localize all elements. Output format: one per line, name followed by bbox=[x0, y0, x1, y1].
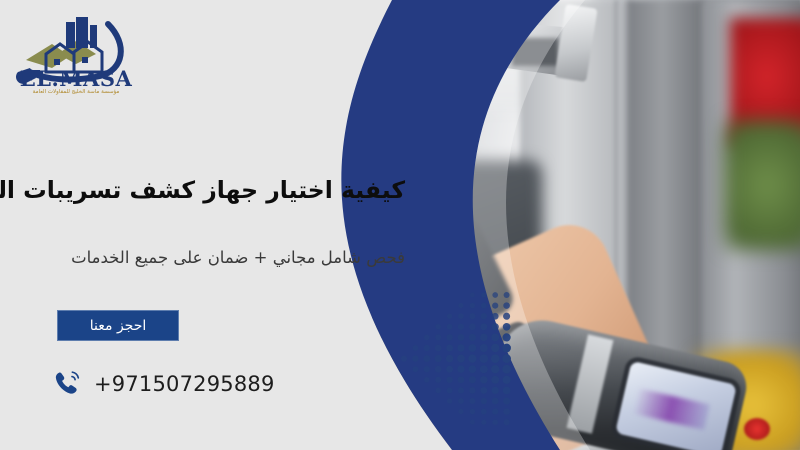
logo-tagline: مؤسسة ماسة الخليج للمقاولات العامة bbox=[12, 89, 140, 95]
banner-content: EL.MASA مؤسسة ماسة الخليج للمقاولات العا… bbox=[0, 0, 800, 450]
contact-phone-row[interactable]: +971507295889 bbox=[52, 368, 275, 400]
promo-banner: EL.MASA مؤسسة ماسة الخليج للمقاولات العا… bbox=[0, 0, 800, 450]
logo-brand-text: EL.MASA bbox=[12, 66, 140, 91]
el-masa-logo[interactable]: EL.MASA مؤسسة ماسة الخليج للمقاولات العا… bbox=[12, 14, 140, 100]
subtitle-text: فحص شامل مجاني + ضمان على جميع الخدمات bbox=[0, 248, 405, 267]
dotted-chevron-arrow bbox=[398, 288, 520, 428]
phone-number: +971507295889 bbox=[94, 372, 275, 396]
book-now-button[interactable]: احجز معنا bbox=[57, 310, 179, 341]
phone-call-icon bbox=[52, 368, 84, 400]
page-title: كيفية اختيار جهاز كشف تسريبات المياه الم… bbox=[0, 176, 405, 205]
